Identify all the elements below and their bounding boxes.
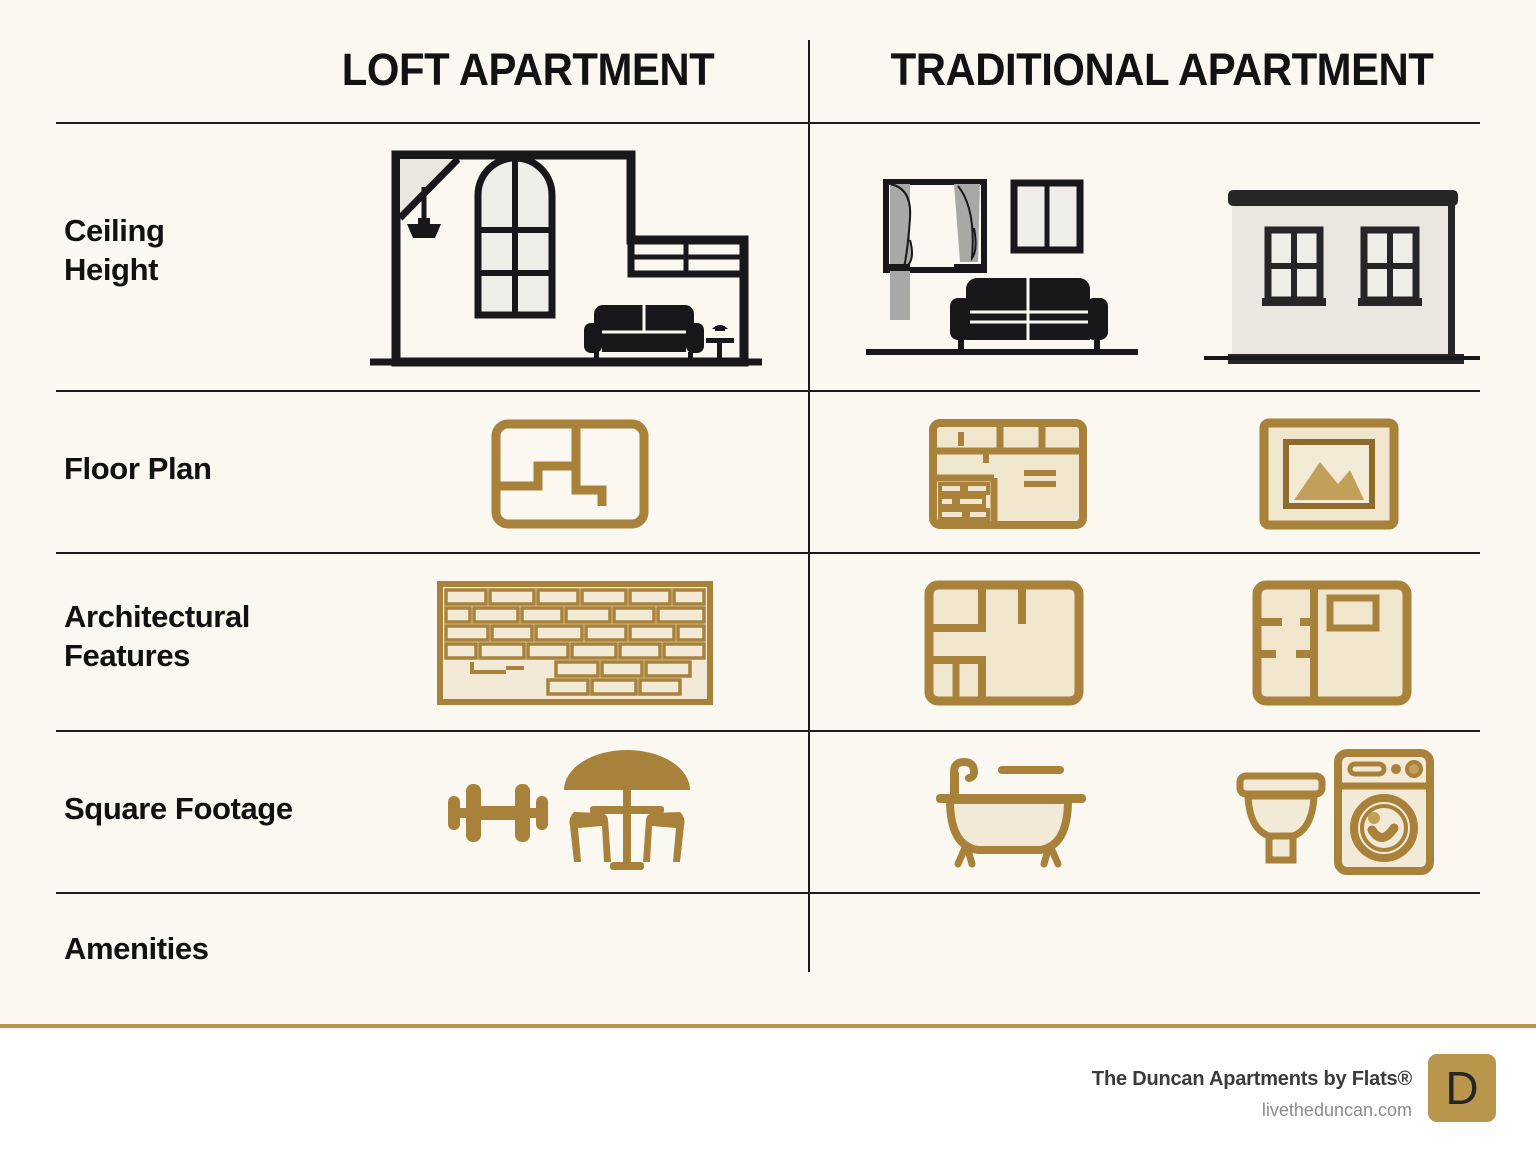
cell-traditional-washer [1332, 748, 1436, 876]
cell-loft-ceiling-height [366, 140, 766, 380]
row-label-line: Height [64, 251, 394, 290]
framed-picture-icon [1258, 418, 1400, 530]
divider-row-1 [56, 390, 1480, 392]
sink-icon [1236, 752, 1326, 872]
column-header-loft: LOFT APARTMENT [290, 44, 766, 96]
divider-row-3 [56, 730, 1480, 732]
bathtub-icon [906, 752, 1116, 872]
row-label-line: Square Footage [64, 790, 394, 829]
footer-website-url[interactable]: livetheduncan.com [1262, 1100, 1412, 1121]
washing-machine-icon [1332, 748, 1436, 876]
living-room-window-sofa-illustration [862, 150, 1162, 380]
row-label-ceiling-height: Ceiling Height [64, 212, 394, 290]
apartment-building-facade-illustration [1204, 162, 1480, 380]
footer-brand-name: The Duncan Apartments by Flats® [1092, 1068, 1412, 1091]
cell-traditional-building [1204, 162, 1480, 380]
divider-header [56, 122, 1480, 124]
cell-traditional-framed-picture [1258, 418, 1400, 530]
row-label-line: Amenities [64, 930, 394, 969]
cell-loft-patio [552, 744, 704, 874]
cell-traditional-living-room [862, 150, 1162, 380]
cell-loft-floor-plan [490, 418, 650, 530]
row-label-floor-plan: Floor Plan [64, 450, 394, 489]
column-header-traditional: TRADITIONAL APARTMENT [831, 44, 1493, 96]
compartmented-floor-plan-icon [928, 418, 1088, 530]
room-layout-plan-alt-icon [1252, 580, 1412, 706]
comparison-sheet: LOFT APARTMENT TRADITIONAL APARTMENT Cei… [0, 0, 1536, 1026]
divider-row-2 [56, 552, 1480, 554]
row-label-line: Features [64, 637, 394, 676]
row-label-line: Architectural [64, 598, 394, 637]
infographic-page: LOFT APARTMENT TRADITIONAL APARTMENT Cei… [0, 0, 1536, 1154]
divider-row-4 [56, 892, 1480, 894]
towel-bar-icon [998, 766, 1064, 774]
row-label-amenities: Amenities [64, 930, 394, 969]
row-label-square-footage: Square Footage [64, 790, 394, 829]
cell-traditional-bathtub [906, 752, 1116, 872]
duncan-logo: D [1428, 1054, 1496, 1122]
dumbbell-icon [436, 752, 556, 872]
logo-letter: D [1445, 1065, 1478, 1111]
divider-column [808, 40, 810, 972]
footer: The Duncan Apartments by Flats® livethed… [0, 1028, 1536, 1154]
patio-umbrella-table-icon [552, 744, 704, 874]
open-floor-plan-icon [490, 418, 650, 530]
exposed-brick-wall-icon [436, 580, 716, 708]
row-label-line: Floor Plan [64, 450, 394, 489]
cell-traditional-room-layout [924, 580, 1084, 706]
cell-loft-gym [436, 752, 556, 872]
cell-traditional-sink [1236, 752, 1326, 872]
loft-interior-illustration [366, 140, 766, 380]
room-layout-plan-icon [924, 580, 1084, 706]
row-label-architectural-features: Architectural Features [64, 598, 394, 676]
cell-loft-exposed-brick [436, 580, 716, 708]
cell-traditional-floor-plan [928, 418, 1088, 530]
row-label-line: Ceiling [64, 212, 394, 251]
cell-traditional-room-layout-alt [1252, 580, 1412, 706]
